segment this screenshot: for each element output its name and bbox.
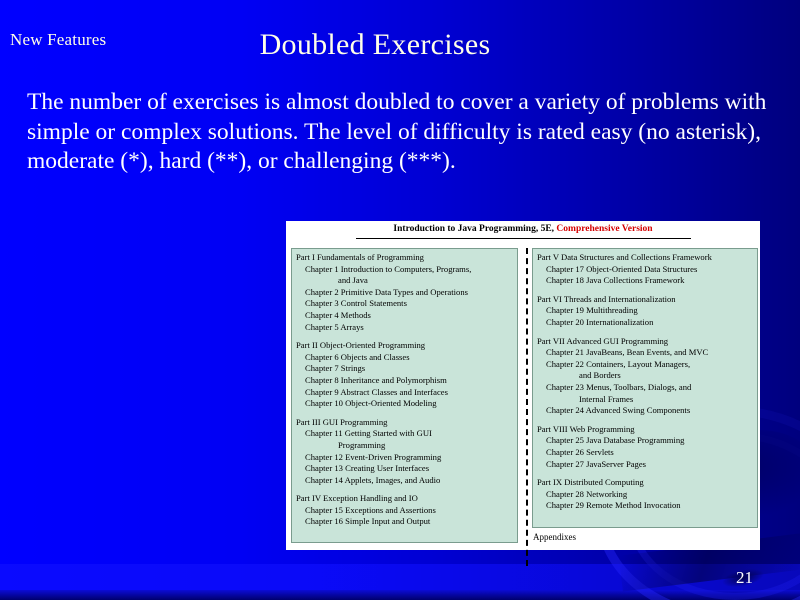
- toc-part-heading: Part I Fundamentals of Programming: [296, 252, 515, 264]
- page-title: Doubled Exercises: [0, 28, 750, 62]
- toc-panel: Introduction to Java Programming, 5E, Co…: [286, 221, 760, 550]
- toc-part-heading: Part IX Distributed Computing: [537, 477, 755, 489]
- toc-spacer: [537, 329, 755, 336]
- toc-spacer: [296, 486, 515, 493]
- toc-chapter-entry: Chapter 2 Primitive Data Types and Opera…: [296, 287, 515, 299]
- toc-chapter-entry: Chapter 11 Getting Started with GUI: [296, 428, 515, 440]
- toc-part-heading: Part III GUI Programming: [296, 417, 515, 429]
- toc-chapter-entry: Chapter 26 Servlets: [537, 447, 755, 459]
- toc-spacer: [296, 410, 515, 417]
- toc-chapter-continuation: Internal Frames: [537, 394, 755, 406]
- toc-title-main: Introduction to Java Programming, 5E,: [393, 224, 554, 234]
- toc-chapter-entry: Chapter 29 Remote Method Invocation: [537, 500, 755, 512]
- toc-chapter-entry: Chapter 17 Object-Oriented Data Structur…: [537, 264, 755, 276]
- toc-chapter-entry: Chapter 8 Inheritance and Polymorphism: [296, 375, 515, 387]
- toc-chapter-entry: Chapter 18 Java Collections Framework: [537, 275, 755, 287]
- toc-chapter-entry: Chapter 21 JavaBeans, Bean Events, and M…: [537, 347, 755, 359]
- slide-canvas: New Features Doubled Exercises The numbe…: [0, 0, 800, 600]
- toc-column-divider: [526, 248, 528, 566]
- toc-panel-title: Introduction to Java Programming, 5E, Co…: [286, 224, 760, 234]
- toc-part-heading: Part IV Exception Handling and IO: [296, 493, 515, 505]
- toc-chapter-entry: Chapter 10 Object-Oriented Modeling: [296, 398, 515, 410]
- toc-spacer: [537, 287, 755, 294]
- toc-chapter-entry: Chapter 5 Arrays: [296, 322, 515, 334]
- toc-right-list: Part V Data Structures and Collections F…: [532, 248, 758, 528]
- toc-part-heading: Part II Object-Oriented Programming: [296, 340, 515, 352]
- toc-chapter-entry: Chapter 23 Menus, Toolbars, Dialogs, and: [537, 382, 755, 394]
- toc-chapter-entry: Chapter 13 Creating User Interfaces: [296, 463, 515, 475]
- toc-chapter-continuation: Programming: [296, 440, 515, 452]
- page-number: 21: [736, 568, 753, 588]
- toc-chapter-entry: Chapter 12 Event-Driven Programming: [296, 452, 515, 464]
- toc-part-heading: Part VIII Web Programming: [537, 424, 755, 436]
- toc-chapter-entry: Chapter 27 JavaServer Pages: [537, 459, 755, 471]
- toc-right-column: Part V Data Structures and Collections F…: [532, 248, 758, 542]
- toc-chapter-continuation: and Java: [296, 275, 515, 287]
- toc-chapter-entry: Chapter 14 Applets, Images, and Audio: [296, 475, 515, 487]
- toc-left-list: Part I Fundamentals of ProgrammingChapte…: [291, 248, 518, 543]
- toc-chapter-entry: Chapter 7 Strings: [296, 363, 515, 375]
- toc-left-column: Part I Fundamentals of ProgrammingChapte…: [291, 248, 518, 543]
- toc-part-heading: Part VII Advanced GUI Programming: [537, 336, 755, 348]
- toc-spacer: [537, 417, 755, 424]
- toc-chapter-entry: Chapter 1 Introduction to Computers, Pro…: [296, 264, 515, 276]
- toc-title-rule: [356, 238, 691, 239]
- toc-chapter-continuation: and Borders: [537, 370, 755, 382]
- toc-chapter-entry: Chapter 25 Java Database Programming: [537, 435, 755, 447]
- toc-chapter-entry: Chapter 9 Abstract Classes and Interface…: [296, 387, 515, 399]
- toc-chapter-entry: Chapter 20 Internationalization: [537, 317, 755, 329]
- toc-part-heading: Part VI Threads and Internationalization: [537, 294, 755, 306]
- toc-chapter-entry: Chapter 15 Exceptions and Assertions: [296, 505, 515, 517]
- slide-body-text: The number of exercises is almost double…: [27, 88, 775, 177]
- toc-chapter-entry: Chapter 6 Objects and Classes: [296, 352, 515, 364]
- toc-chapter-entry: Chapter 19 Multithreading: [537, 305, 755, 317]
- toc-title-accent: Comprehensive Version: [556, 224, 652, 234]
- toc-spacer: [537, 470, 755, 477]
- toc-chapter-entry: Chapter 22 Containers, Layout Managers,: [537, 359, 755, 371]
- toc-chapter-entry: Chapter 16 Simple Input and Output: [296, 516, 515, 528]
- toc-chapter-entry: Chapter 3 Control Statements: [296, 298, 515, 310]
- toc-spacer: [296, 333, 515, 340]
- toc-chapter-entry: Chapter 24 Advanced Swing Components: [537, 405, 755, 417]
- toc-part-heading: Part V Data Structures and Collections F…: [537, 252, 755, 264]
- toc-appendixes-label: Appendixes: [532, 528, 758, 542]
- toc-chapter-entry: Chapter 28 Networking: [537, 489, 755, 501]
- toc-chapter-entry: Chapter 4 Methods: [296, 310, 515, 322]
